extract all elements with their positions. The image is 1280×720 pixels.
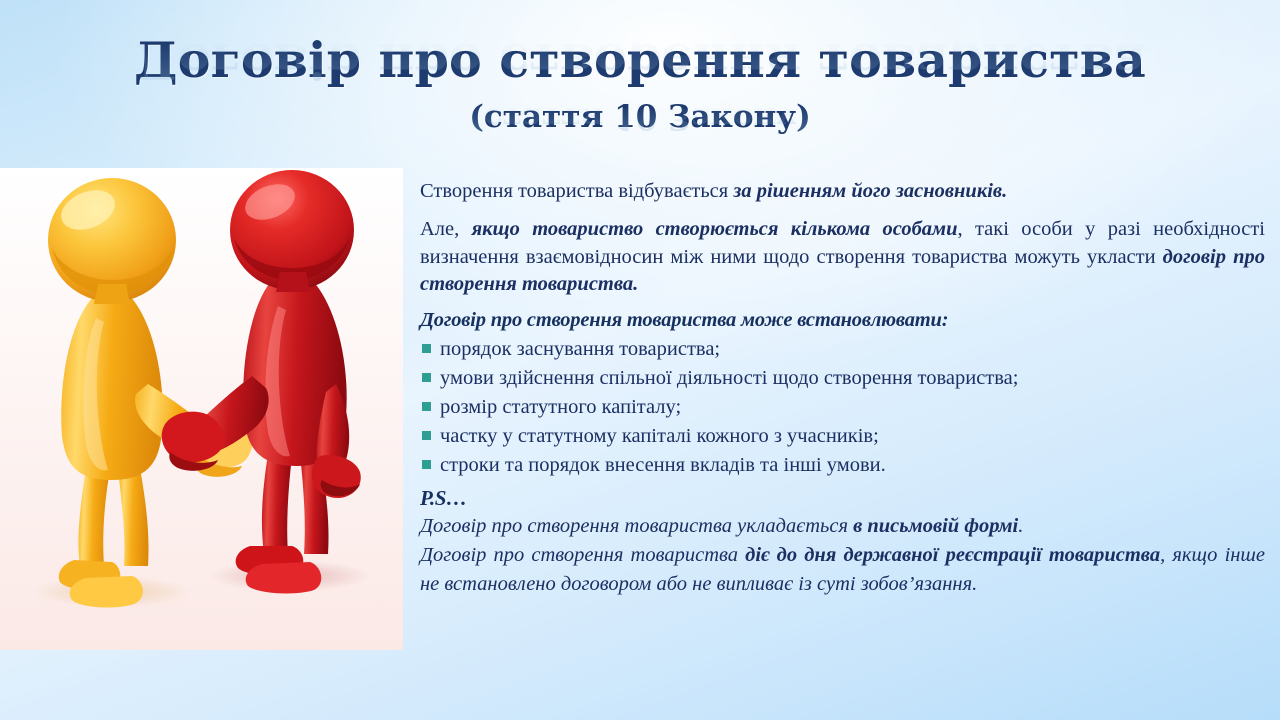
list-heading: Договір про створення товариства може вс…	[420, 309, 1265, 332]
ps-paragraph-2-part-1: Договір про створення товариства	[420, 544, 745, 566]
square-bullet-icon	[422, 344, 431, 353]
paragraph-1-part-1: Створення товариства відбувається	[420, 180, 733, 202]
conditions-list: порядок заснування товариства; умови зді…	[420, 335, 1265, 481]
paragraph-2: Але, якщо товариство створюється кільком…	[420, 216, 1265, 298]
square-bullet-icon	[422, 460, 431, 469]
square-bullet-icon	[422, 373, 431, 382]
ps-paragraph-2-emphasis-1: діє до дня державної реєстрації товарист…	[745, 544, 1160, 566]
ps-paragraph-1-emphasis-1: в письмовій формі	[853, 515, 1018, 537]
page-title: Договір про створення товариства Договір…	[0, 36, 1280, 85]
square-bullet-icon	[422, 402, 431, 411]
list-item-label: розмір статутного капіталу;	[440, 396, 681, 418]
list-item-label: порядок заснування товариства;	[440, 338, 720, 360]
ps-paragraph-1-part-2: .	[1018, 515, 1023, 537]
list-item: строки та порядок внесення вкладів та ін…	[420, 451, 1265, 480]
paragraph-1-emphasis-1: за рішенням його засновників.	[733, 180, 1007, 202]
list-item-label: частку у статутному капіталі кожного з у…	[440, 425, 879, 447]
list-item-label: умови здійснення спільної діяльності щод…	[440, 367, 1018, 389]
title-block: Договір про створення товариства Договір…	[0, 36, 1280, 133]
handshake-figures-image	[0, 168, 403, 650]
list-item: умови здійснення спільної діяльності щод…	[420, 364, 1265, 393]
slide: Договір про створення товариства Договір…	[0, 0, 1280, 720]
ps-paragraph-1-part-1: Договір про створення товариства укладає…	[420, 515, 853, 537]
page-subtitle: (стаття 10 Закону) (стаття 10 Закону)	[0, 102, 1280, 133]
square-bullet-icon	[422, 431, 431, 440]
list-item: порядок заснування товариства;	[420, 335, 1265, 364]
list-item-label: строки та порядок внесення вкладів та ін…	[440, 454, 886, 476]
page-subtitle-text: (стаття 10 Закону)	[469, 99, 811, 135]
page-title-text: Договір про створення товариства	[134, 31, 1146, 89]
paragraph-1: Створення товариства відбувається за ріш…	[420, 178, 1265, 205]
ps-paragraph-1: Договір про створення товариства укладає…	[420, 512, 1265, 541]
list-item: розмір статутного капіталу;	[420, 393, 1265, 422]
ps-paragraph-2: Договір про створення товариства діє до …	[420, 541, 1265, 598]
paragraph-2-part-1: Але,	[420, 218, 472, 240]
slide-body: Створення товариства відбувається за ріш…	[420, 178, 1265, 599]
ps-label: P.S…	[420, 486, 1265, 511]
paragraph-2-emphasis-1: якщо товариство створюється кількома осо…	[472, 218, 958, 240]
list-item: частку у статутному капіталі кожного з у…	[420, 422, 1265, 451]
